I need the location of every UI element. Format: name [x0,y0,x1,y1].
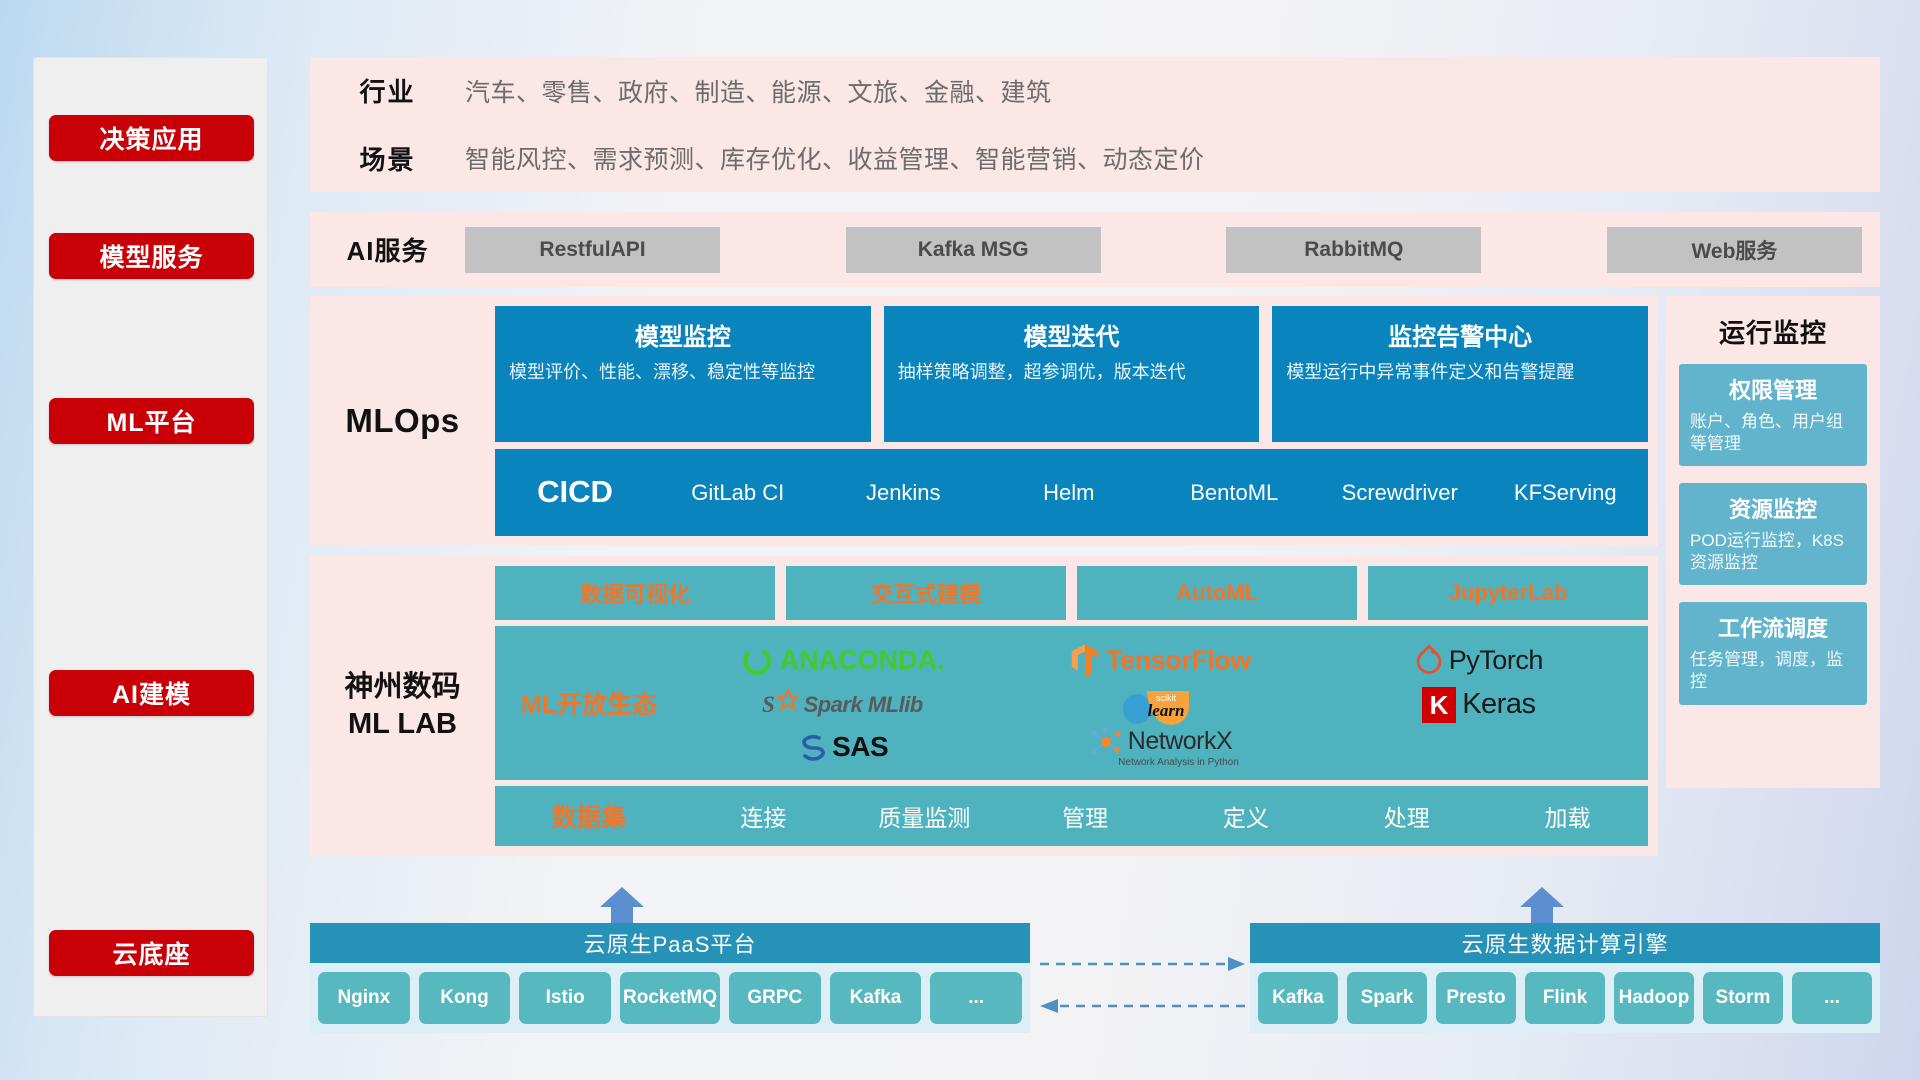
industry-label: 行业 [310,72,465,109]
cicd-bar: CICD GitLab CI Jenkins Helm BentoML Scre… [495,449,1648,536]
cloud-data-engine-title: 云原生数据计算引擎 [1250,923,1880,963]
networkx-tagline: Network Analysis in Python [1118,757,1239,768]
svg-text:learn: learn [1148,701,1185,720]
tensorflow-wordmark: TensorFlow [1106,645,1251,676]
cicd-item-bentoml[interactable]: BentoML [1152,481,1318,504]
cloud-paas-chip-group: Nginx Kong Istio RocketMQ GRPC Kafka ... [310,963,1030,1033]
rail-badge-decision-apps[interactable]: 决策应用 [49,115,254,161]
mlops-card-model-monitoring[interactable]: 模型监控 模型评价、性能、漂移、稳定性等监控 [495,306,871,442]
ml-open-ecosystem-label: ML开放生态 [495,685,683,721]
cicd-label: CICD [495,474,655,510]
ml-open-ecosystem-panel: ML开放生态 ANACONDA. [495,626,1648,780]
card-desc: 模型运行中异常事件定义和告警提醒 [1286,361,1634,385]
ai-service-chip-kafka-msg[interactable]: Kafka MSG [846,227,1101,273]
cloud-chip-grpc[interactable]: GRPC [729,972,821,1024]
monitor-card-workflow[interactable]: 工作流调度 任务管理，调度，监控 [1679,602,1867,704]
card-desc: 模型评价、性能、漂移、稳定性等监控 [509,361,857,385]
monitor-card-resource[interactable]: 资源监控 POD运行监控，K8S资源监控 [1679,483,1867,585]
industry-row: 行业 汽车、零售、政府、制造、能源、文旅、金融、建筑 [310,57,1880,125]
card-desc: 任务管理，调度，监控 [1690,649,1856,693]
spark-wordmark: Spark MLlib [804,692,923,718]
scenario-values: 智能风控、需求预测、库存优化、收益管理、智能营销、动态定价 [465,140,1205,176]
dataset-item-process[interactable]: 处理 [1326,799,1487,833]
rail-badge-ml-platform[interactable]: ML平台 [49,398,254,444]
pytorch-logo: PyTorch [1415,644,1543,678]
card-title: 资源监控 [1690,492,1856,524]
ai-service-label: AI服务 [310,231,465,268]
stage-rail: 决策应用 模型服务 ML平台 AI建模 云底座 [33,57,268,1017]
cloud-paas-group: 云原生PaaS平台 Nginx Kong Istio RocketMQ GRPC… [310,923,1030,1033]
logo-grid: ANACONDA. TensorFlow [683,639,1648,768]
cloud-chip-nginx[interactable]: Nginx [318,972,410,1024]
dataset-item-quality[interactable]: 质量监测 [844,799,1005,833]
cloud-chip-kafka[interactable]: Kafka [830,972,922,1024]
card-desc: 抽样策略调整，超参调优，版本迭代 [898,361,1246,385]
pytorch-wordmark: PyTorch [1449,645,1543,676]
svg-text:S: S [762,692,775,717]
card-title: 监控告警中心 [1286,317,1634,352]
cloud-chip-kong[interactable]: Kong [419,972,511,1024]
sas-logo: SAS [796,731,888,763]
scenario-row: 场景 智能风控、需求预测、库存优化、收益管理、智能营销、动态定价 [310,125,1880,193]
card-desc: 账户、角色、用户组等管理 [1690,411,1856,455]
band-mlops: MLOps 模型监控 模型评价、性能、漂移、稳定性等监控 模型迭代 抽样策略调整… [310,296,1658,546]
ml-lab-label-line2: ML LAB [310,706,495,743]
cloud-data-engine-chip-group: Kafka Spark Presto Flink Hadoop Storm ..… [1250,963,1880,1033]
cloud-chip-more[interactable]: ... [930,972,1022,1024]
ai-service-chip-rabbitmq[interactable]: RabbitMQ [1226,227,1481,273]
bidirectional-link-icon [1040,948,1245,1020]
data-chip-presto[interactable]: Presto [1436,972,1516,1024]
band-ai-service: AI服务 RestfulAPI Kafka MSG RabbitMQ Web服务 [310,212,1880,287]
tab-jupyterlab[interactable]: JupyterLab [1368,566,1648,620]
tab-automl[interactable]: AutoML [1077,566,1357,620]
cicd-item-jenkins[interactable]: Jenkins [821,481,987,504]
tensorflow-logo: TensorFlow [1070,643,1251,679]
dataset-item-connect[interactable]: 连接 [683,799,844,833]
ml-lab-tab-group: 数据可视化 交互式建模 AutoML JupyterLab [495,566,1648,620]
ai-service-chip-group: RestfulAPI Kafka MSG RabbitMQ Web服务 [465,227,1880,273]
cloud-chip-rocketmq[interactable]: RocketMQ [620,972,720,1024]
mlops-body: 模型监控 模型评价、性能、漂移、稳定性等监控 模型迭代 抽样策略调整，超参调优，… [495,296,1658,546]
rail-badge-model-service[interactable]: 模型服务 [49,233,254,279]
card-desc: POD运行监控，K8S资源监控 [1690,530,1856,574]
tab-data-visualization[interactable]: 数据可视化 [495,566,775,620]
networkx-wordmark: NetworkX [1128,727,1232,756]
cicd-item-gitlab-ci[interactable]: GitLab CI [655,481,821,504]
ai-service-chip-restfulapi[interactable]: RestfulAPI [465,227,720,273]
cicd-item-screwdriver[interactable]: Screwdriver [1317,481,1483,504]
data-chip-storm[interactable]: Storm [1703,972,1783,1024]
pytorch-icon [1415,644,1443,678]
card-title: 模型监控 [509,317,857,352]
card-title: 权限管理 [1690,373,1856,405]
rail-badge-label: 模型服务 [99,238,203,274]
mlops-card-model-iteration[interactable]: 模型迭代 抽样策略调整，超参调优，版本迭代 [884,306,1260,442]
rail-badge-cloud-base[interactable]: 云底座 [49,930,254,976]
ml-lab-label-line1: 神州数码 [310,669,495,706]
dataset-item-manage[interactable]: 管理 [1005,799,1166,833]
run-monitoring-title: 运行监控 [1679,313,1867,350]
rail-badge-ai-modeling[interactable]: AI建模 [49,670,254,716]
keras-icon: K [1422,687,1456,723]
anaconda-wordmark: ANACONDA. [780,645,945,676]
dataset-item-group: 连接 质量监测 管理 定义 处理 加载 [683,799,1648,833]
dataset-item-define[interactable]: 定义 [1165,799,1326,833]
tensorflow-icon [1070,643,1100,679]
data-chip-flink[interactable]: Flink [1525,972,1605,1024]
svg-text:K: K [1430,690,1449,720]
rail-badge-label: 云底座 [112,935,190,971]
rail-badge-label: AI建模 [112,675,191,711]
mlops-card-group: 模型监控 模型评价、性能、漂移、稳定性等监控 模型迭代 抽样策略调整，超参调优，… [495,306,1648,442]
cloud-data-engine-group: 云原生数据计算引擎 Kafka Spark Presto Flink Hadoo… [1250,923,1880,1033]
dataset-bar: 数据集 连接 质量监测 管理 定义 处理 加载 [495,786,1648,846]
architecture-diagram: 行业 汽车、零售、政府、制造、能源、文旅、金融、建筑 场景 智能风控、需求预测、… [300,0,1880,1080]
ml-lab-label: 神州数码 ML LAB [310,669,495,743]
card-title: 模型迭代 [898,317,1246,352]
ai-service-chip-web-service[interactable]: Web服务 [1607,227,1862,273]
anaconda-logo: ANACONDA. [740,644,945,678]
keras-logo: K Keras [1422,687,1535,723]
band-ml-lab: 神州数码 ML LAB 数据可视化 交互式建模 AutoML JupyterLa… [310,556,1658,856]
keras-wordmark: Keras [1462,688,1535,721]
ml-lab-body: 数据可视化 交互式建模 AutoML JupyterLab ML开放生态 ANA… [495,556,1658,856]
anaconda-icon [740,644,774,678]
data-chip-kafka[interactable]: Kafka [1258,972,1338,1024]
networkx-icon [1089,727,1123,757]
mlops-label: MLOps [310,402,495,440]
networkx-logo: NetworkX Network Analysis in Python [1082,727,1239,768]
spark-icon: S [762,688,798,722]
cloud-paas-title: 云原生PaaS平台 [310,923,1030,963]
tab-interactive-modeling[interactable]: 交互式建模 [786,566,1066,620]
scikit-learn-logo: scikit learn [1117,683,1203,727]
cicd-item-helm[interactable]: Helm [986,481,1152,504]
rail-badge-label: ML平台 [106,403,196,439]
scikit-learn-icon: scikit learn [1117,683,1203,727]
band-decision-apps: 行业 汽车、零售、政府、制造、能源、文旅、金融、建筑 场景 智能风控、需求预测、… [310,57,1880,192]
cicd-item-kfserving[interactable]: KFServing [1483,481,1649,504]
dataset-item-load[interactable]: 加载 [1487,799,1648,833]
data-chip-hadoop[interactable]: Hadoop [1614,972,1694,1024]
sas-wordmark: SAS [832,731,888,763]
spark-mllib-logo: S Spark MLlib [762,688,923,722]
cicd-item-group: GitLab CI Jenkins Helm BentoML Screwdriv… [655,481,1648,504]
rail-badge-label: 决策应用 [99,120,203,156]
sas-icon [796,731,826,763]
card-title: 工作流调度 [1690,611,1856,643]
cloud-chip-istio[interactable]: Istio [519,972,611,1024]
scenario-label: 场景 [310,140,465,177]
band-run-monitoring: 运行监控 权限管理 账户、角色、用户组等管理 资源监控 POD运行监控，K8S资… [1666,296,1880,788]
dataset-label: 数据集 [495,798,683,834]
industry-values: 汽车、零售、政府、制造、能源、文旅、金融、建筑 [465,73,1052,109]
data-chip-more[interactable]: ... [1792,972,1872,1024]
data-chip-spark[interactable]: Spark [1347,972,1427,1024]
mlops-card-alert-center[interactable]: 监控告警中心 模型运行中异常事件定义和告警提醒 [1272,306,1648,442]
monitor-card-permission[interactable]: 权限管理 账户、角色、用户组等管理 [1679,364,1867,466]
